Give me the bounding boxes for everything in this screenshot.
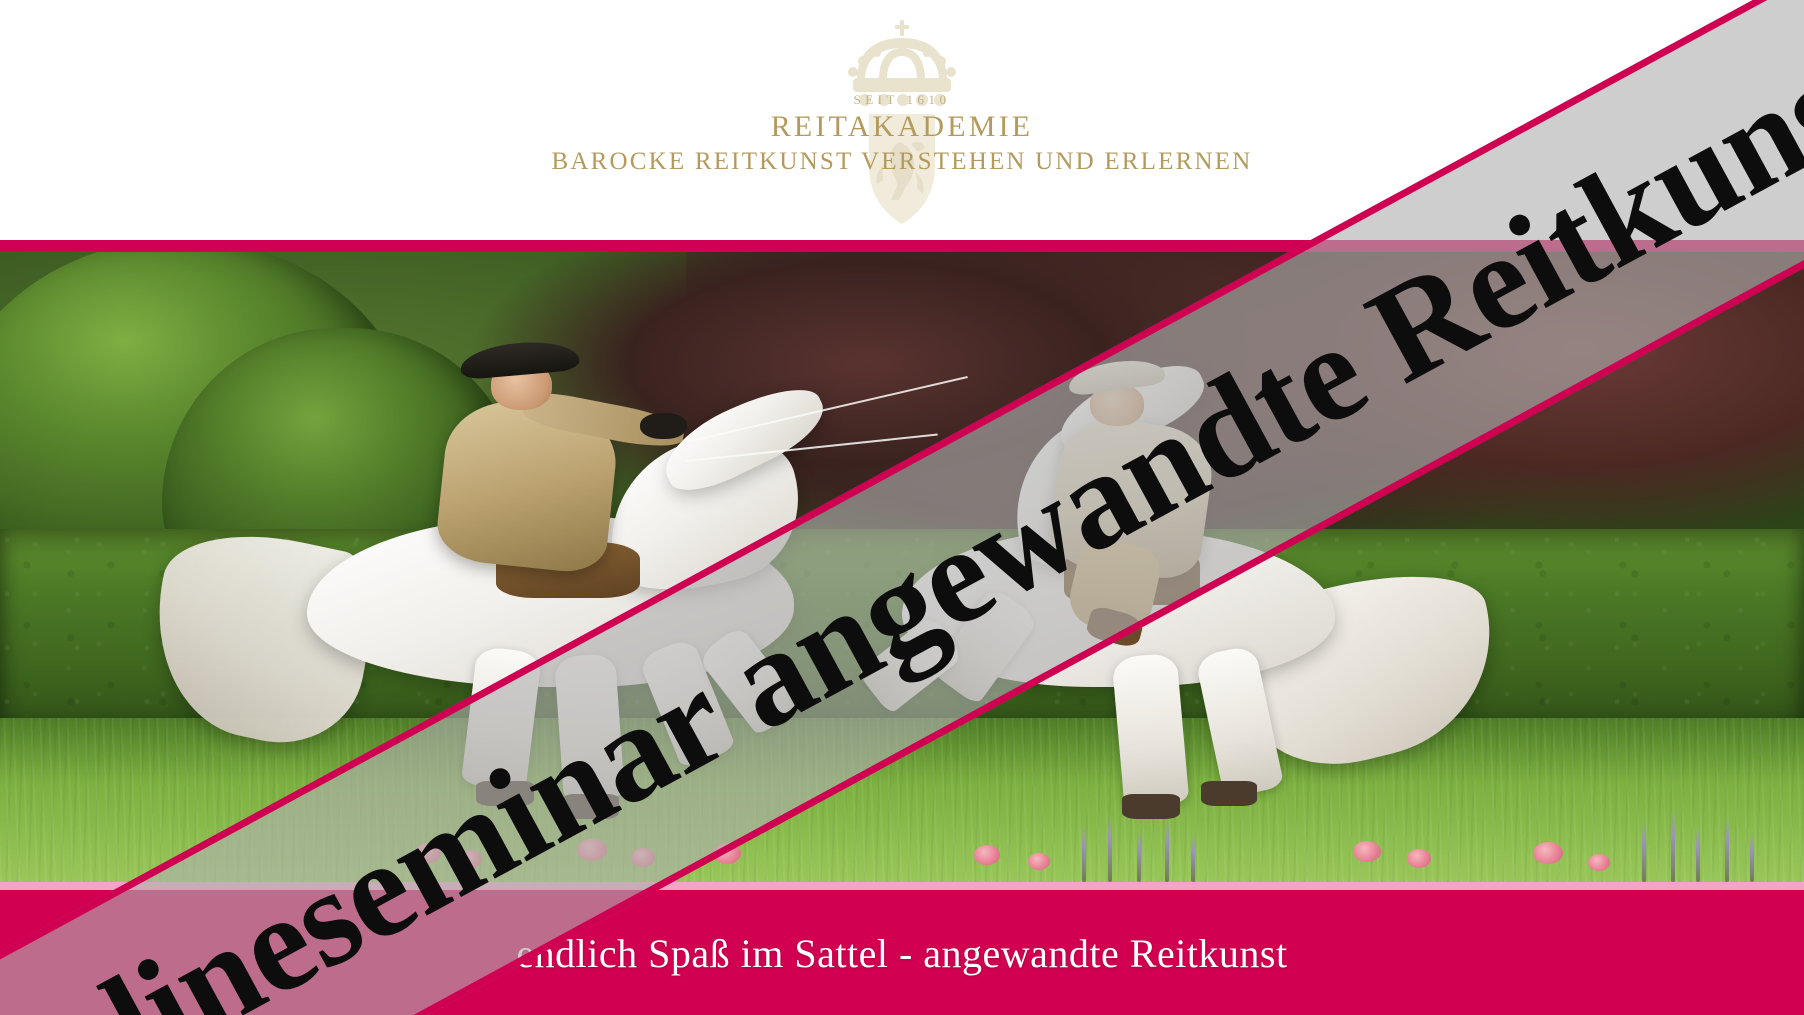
flower-clump (1533, 842, 1563, 864)
founded-year-label: SEIT 1610 (854, 92, 951, 108)
lavender-stalk (1191, 835, 1195, 882)
lavender-stalk (1750, 833, 1754, 882)
lavender-stalk (1671, 811, 1675, 882)
lavender-stalk (1642, 822, 1646, 882)
lavender-stalk (1108, 816, 1112, 882)
lavender-stalk (1137, 831, 1141, 882)
flower-clump (1588, 854, 1610, 871)
academy-tagline: BAROCKE REITKUNST VERSTEHEN UND ERLERNEN (552, 148, 1253, 176)
flower-clump (1028, 853, 1050, 870)
lavender-stalk (1082, 826, 1086, 882)
flower-clump (1353, 841, 1381, 862)
footer-tagline: endlich Spaß im Sattel - angewandte Reit… (516, 930, 1287, 977)
lavender-stalk (1165, 820, 1169, 882)
lavender-stalk (1696, 828, 1700, 882)
rider-glove-left (640, 413, 687, 439)
flower-clump (974, 845, 1000, 865)
flower-clump (1407, 849, 1431, 868)
lavender-stalk (1725, 818, 1729, 882)
academy-name: REITAKADEMIE (771, 110, 1034, 144)
promo-graphic: SEIT 1610 REITAKADEMIE BAROCKE REITKUNST… (0, 0, 1804, 1015)
